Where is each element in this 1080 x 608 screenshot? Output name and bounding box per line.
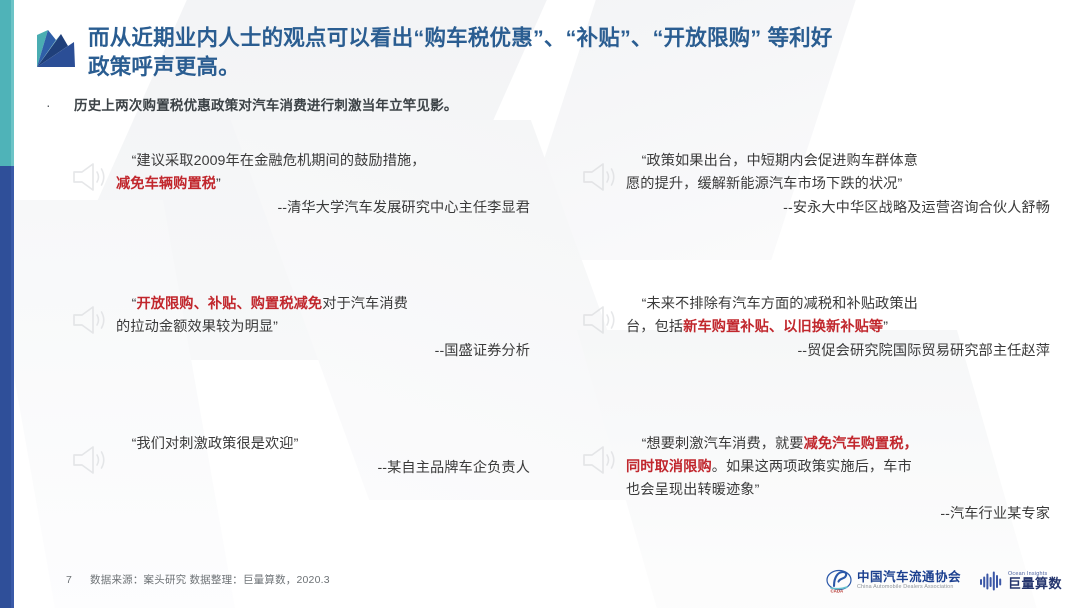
quote-line: “建议采取2009年在金融危机期间的鼓励措施， [132, 153, 426, 169]
quote-line: 也会呈现出转暖迹象” [626, 482, 759, 498]
quote-highlight: 减免车辆购置税 [116, 176, 216, 192]
quote-line: 愿的提升，缓解新能源汽车市场下跌的状况” [626, 176, 902, 192]
quote-highlight: 开放限购、补贴、购置税减免 [136, 296, 322, 312]
footer-logo-group: CADA 中国汽车流通协会 China Automobile Dealers A… [826, 568, 1062, 594]
left-rail-bottom [0, 166, 14, 608]
quote-attribution: --国盛证券分析 [116, 340, 530, 363]
speaker-icon [70, 303, 110, 337]
quote-card-industry-expert: “想要刺激汽车消费，就要减免汽车购置税， 同时取消限购。如果这两项政策实施后，车… [580, 433, 1050, 526]
page-number: 7 [66, 574, 72, 586]
slide-header: 而从近期业内人士的观点可以看出“购车税优惠”、“补贴”、“开放限购” 等利好 政… [34, 24, 1050, 114]
logo-china-automobile-dealers-association: CADA 中国汽车流通协会 China Automobile Dealers A… [826, 568, 961, 594]
logo-ocean-insights: Ocean Insights 巨量算数 [979, 570, 1062, 592]
quote-line: “想要刺激汽车消费，就要 [642, 436, 804, 452]
speaker-icon [580, 160, 620, 194]
quote-grid: “建议采取2009年在金融危机期间的鼓励措施， 减免车辆购置税” --清华大学汽… [70, 150, 1060, 540]
quote-attribution: --清华大学汽车发展研究中心主任李显君 [116, 197, 530, 220]
slide-canvas: 而从近期业内人士的观点可以看出“购车税优惠”、“补贴”、“开放限购” 等利好 政… [0, 0, 1080, 608]
quote-line: ” [216, 176, 221, 192]
quote-card-shu-chang: “政策如果出台，中短期内会促进购车群体意 愿的提升，缓解新能源汽车市场下跌的状况… [580, 150, 1050, 220]
speaker-icon [580, 443, 620, 477]
quote-line: 的拉动金额效果较为明显” [116, 319, 278, 335]
quote-line: “政策如果出台，中短期内会促进购车群体意 [642, 153, 918, 169]
left-rail-top [0, 0, 14, 166]
quote-attribution: --贸促会研究院国际贸易研究部主任赵萍 [626, 340, 1050, 363]
quote-card-oem-exec: “我们对刺激政策很是欢迎” --某自主品牌车企负责人 [70, 433, 530, 480]
quote-highlight: 减免汽车购置税， [804, 436, 918, 452]
ocean-insights-emblem-icon [979, 570, 1003, 592]
quote-line: “我们对刺激政策很是欢迎” [132, 436, 299, 452]
footer-source-block: 7 数据来源：案头研究 数据整理：巨量算数，2020.3 [66, 572, 330, 587]
cada-name-cn: 中国汽车流通协会 [857, 571, 961, 585]
slide-footer: 7 数据来源：案头研究 数据整理：巨量算数，2020.3 CADA 中国汽车流通… [0, 560, 1080, 608]
quote-line: 对于汽车消费 [322, 296, 408, 312]
ocean-insights-name-cn: 巨量算数 [1008, 577, 1062, 592]
quote-highlight: 同时取消限购 [626, 459, 712, 475]
quote-attribution: --汽车行业某专家 [626, 503, 1050, 526]
quote-card-li-xianjun: “建议采取2009年在金融危机期间的鼓励措施， 减免车辆购置税” --清华大学汽… [70, 150, 530, 220]
quote-highlight: 新车购置补贴、以旧换新补贴等 [683, 319, 883, 335]
quote-line: ” [883, 319, 888, 335]
svg-text:CADA: CADA [830, 589, 844, 594]
subtitle-text: 历史上两次购置税优惠政策对汽车消费进行刺激当年立竿见影。 [74, 94, 458, 114]
data-source-text: 数据来源：案头研究 数据整理：巨量算数，2020.3 [90, 572, 330, 587]
quote-line: “未来不排除有汽车方面的减税和补贴政策出 [642, 296, 918, 312]
speaker-icon [580, 303, 620, 337]
cada-name-en: China Automobile Dealers Association [857, 585, 961, 591]
quote-card-guosheng-securities: “开放限购、补贴、购置税减免对于汽车消费 的拉动金额效果较为明显” --国盛证券… [70, 293, 530, 363]
page-title: 而从近期业内人士的观点可以看出“购车税优惠”、“补贴”、“开放限购” 等利好 政… [88, 24, 1050, 81]
speaker-icon [70, 443, 110, 477]
quote-attribution: --某自主品牌车企负责人 [116, 457, 530, 480]
cada-emblem-icon: CADA [826, 568, 852, 594]
quote-card-zhao-ping: “未来不排除有汽车方面的减税和补贴政策出 台，包括新车购置补贴、以旧换新补贴等”… [580, 293, 1050, 363]
brand-fan-logo-icon [34, 26, 78, 70]
subtitle-bullet: · 历史上两次购置税优惠政策对汽车消费进行刺激当年立竿见影。 [42, 94, 1050, 114]
speaker-icon [70, 160, 110, 194]
bullet-marker-icon: · [42, 97, 74, 113]
quote-line: 。如果这两项政策实施后，车市 [712, 459, 912, 475]
quote-line: 台，包括 [626, 319, 683, 335]
quote-attribution: --安永大中华区战略及运营咨询合伙人舒畅 [626, 197, 1050, 220]
